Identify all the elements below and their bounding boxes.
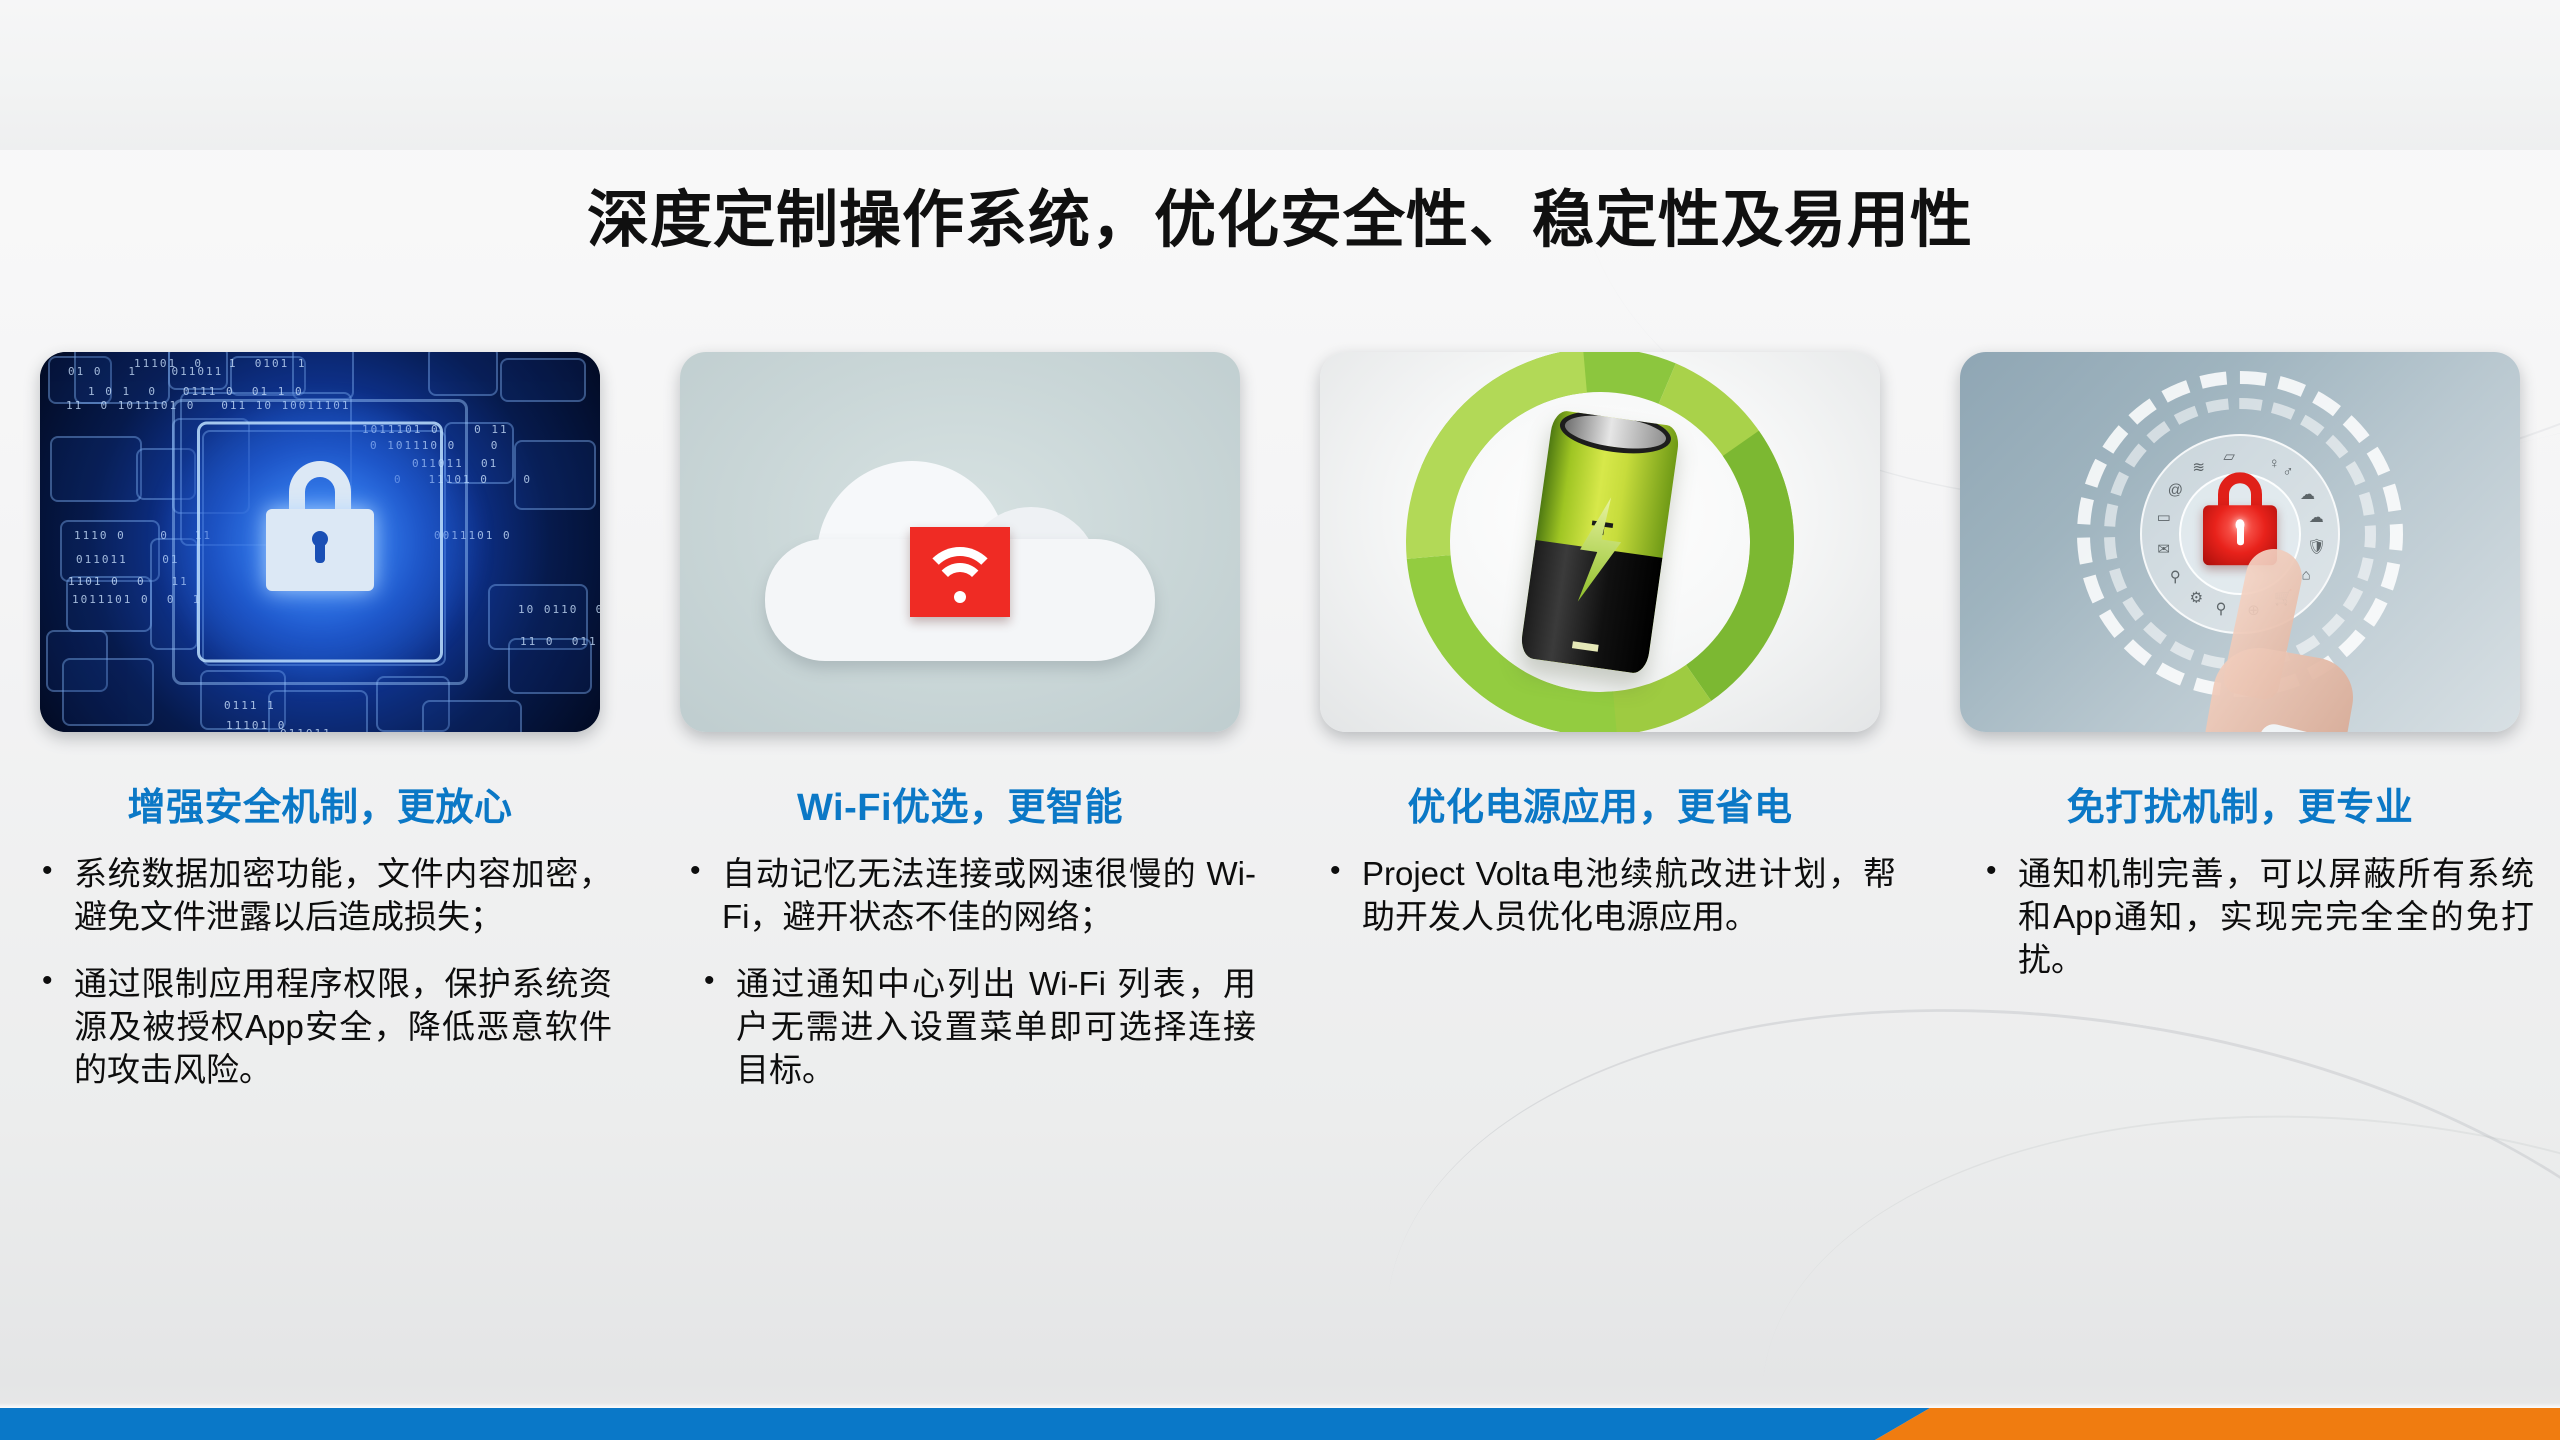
list-item: 自动记忆无法连接或网速很慢的 Wi-Fi，避开状态不佳的网络； [674, 853, 1256, 939]
tablet-icon: ▱ [2219, 447, 2239, 467]
cloud-upload-icon: ☁ [2298, 485, 2318, 505]
red-padlock-icon [2203, 506, 2277, 566]
bullet-list-dnd: 通知机制完善，可以屏蔽所有系统和App通知，实现完完全全的免打扰。 [1940, 853, 2540, 982]
thumbnail-wrapper: + [1300, 352, 1900, 732]
column-heading-dnd: 免打扰机制，更专业 [1940, 776, 2540, 831]
search-icon: ⚲ [2165, 568, 2185, 588]
bottom-accent-bar [0, 1408, 2560, 1440]
slide-title: 深度定制操作系统，优化安全性、稳定性及易用性 [0, 185, 2560, 256]
security-lock-binary-image: 11101 0 1 0101 1 01 0 1 011011 1 0 1 0 0… [40, 352, 600, 732]
bullet-list-security: 系统数据加密功能，文件内容加密，避免文件泄露以后造成损失； 通过限制应用程序权限… [20, 853, 620, 1091]
list-item: Project Volta电池续航改进计划，帮助开发人员优化电源应用。 [1314, 853, 1896, 939]
padlock-icon [266, 509, 374, 591]
shield-icon: 🛡 [2307, 538, 2327, 558]
background-top-band [0, 0, 2560, 150]
list-item: 通知机制完善，可以屏蔽所有系统和App通知，实现完完全全的免打扰。 [1970, 853, 2534, 982]
green-battery-recycle-image: + [1320, 352, 1880, 732]
cart-icon: 🛒 [2274, 589, 2294, 609]
feature-column-wifi: Wi-Fi优选，更智能 自动记忆无法连接或网速很慢的 Wi-Fi，避开状态不佳的… [640, 352, 1280, 1115]
location-pin-icon: ⚲ [2211, 600, 2231, 620]
feature-columns: 11101 0 1 0101 1 01 0 1 011011 1 0 1 0 0… [0, 352, 2560, 1115]
mail-icon: ✉ [2154, 541, 2174, 561]
thumbnail-wrapper: 11101 0 1 0101 1 01 0 1 011011 1 0 1 0 0… [20, 352, 620, 732]
list-item: 通过限制应用程序权限，保护系统资源及被授权App安全，降低恶意软件的攻击风险。 [26, 963, 612, 1092]
slide-canvas: 深度定制操作系统，优化安全性、稳定性及易用性 [0, 0, 2560, 1440]
thumbnail-wrapper [660, 352, 1260, 732]
bottom-bar-orange-segment [1830, 1408, 2560, 1440]
monitor-icon: ▭ [2154, 508, 2174, 528]
home-icon: ⌂ [2296, 566, 2316, 586]
at-sign-icon: @ [2165, 481, 2185, 501]
signal-icon: ≋ [2189, 458, 2209, 478]
globe-icon: ⊕ [2244, 601, 2264, 621]
touch-security-ring-image: ♀ ♂ ☁ ☁ 🛡 ⌂ 🛒 ⊕ ⚲ ⚙ ⚲ ✉ ▭ @ ≋ [1960, 352, 2520, 732]
thumbnail-wrapper: ♀ ♂ ☁ ☁ 🛡 ⌂ 🛒 ⊕ ⚲ ⚙ ⚲ ✉ ▭ @ ≋ [1940, 352, 2540, 732]
feature-column-dnd: ♀ ♂ ☁ ☁ 🛡 ⌂ 🛒 ⊕ ⚲ ⚙ ⚲ ✉ ▭ @ ≋ [1920, 352, 2560, 1006]
background-swoosh-bottom-secondary [1730, 1059, 2560, 1440]
bullet-list-power: Project Volta电池续航改进计划，帮助开发人员优化电源应用。 [1300, 853, 1900, 939]
cloud-wifi-image [680, 352, 1240, 732]
cloud-download-icon: ☁ [2306, 508, 2326, 528]
feature-column-security: 11101 0 1 0101 1 01 0 1 011011 1 0 1 0 0… [0, 352, 640, 1115]
bullet-list-wifi: 自动记忆无法连接或网速很慢的 Wi-Fi，避开状态不佳的网络； 通过通知中心列出… [660, 853, 1260, 1091]
list-item: 通过通知中心列出 Wi-Fi 列表，用户无需进入设置菜单即可选择连接目标。 [674, 963, 1256, 1092]
feature-column-power: + 优化电源应用，更省电 Project Volta电池续航改进计划，帮助开发人… [1280, 352, 1920, 963]
column-heading-power: 优化电源应用，更省电 [1300, 776, 1900, 831]
bottom-bar-blue-segment [0, 1408, 1930, 1440]
column-heading-security: 增强安全机制，更放心 [20, 776, 620, 831]
person-icon: ♂ [2278, 463, 2298, 483]
column-heading-wifi: Wi-Fi优选，更智能 [660, 776, 1260, 831]
list-item: 系统数据加密功能，文件内容加密，避免文件泄露以后造成损失； [26, 853, 612, 939]
wifi-icon [910, 527, 1010, 617]
gear-icon: ⚙ [2186, 589, 2206, 609]
